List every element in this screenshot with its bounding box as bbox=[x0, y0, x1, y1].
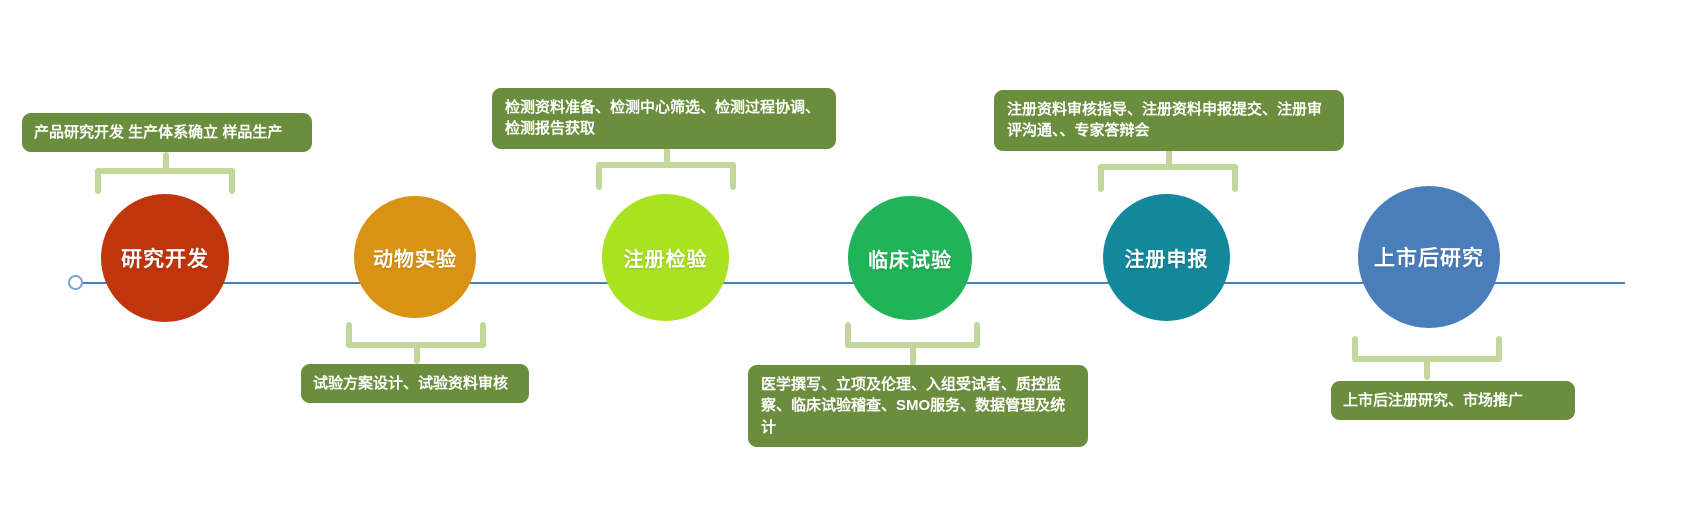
callout-stage-6: 上市后注册研究、市场推广 bbox=[1331, 381, 1575, 420]
callout-stage-5: 注册资料审核指导、注册资料申报提交、注册审评沟通、、专家答辩会 bbox=[994, 90, 1344, 151]
bracket-stage-5 bbox=[1098, 144, 1238, 196]
callout-stage-4: 医学撰写、立项及伦理、入组受试者、质控监察、临床试验稽查、SMO服务、数据管理及… bbox=[748, 365, 1088, 447]
bracket-stage-6 bbox=[1352, 336, 1502, 382]
node-stage-5[interactable]: 注册申报 bbox=[1103, 194, 1230, 321]
bracket-stage-3 bbox=[596, 142, 736, 194]
node-stage-6[interactable]: 上市后研究 bbox=[1358, 186, 1500, 328]
diagram-canvas: 产品研究开发 生产体系确立 样品生产 研究开发 动物实验 试验方案设计、试验资料… bbox=[0, 0, 1699, 522]
node-stage-4[interactable]: 临床试验 bbox=[848, 196, 972, 320]
node-stage-3[interactable]: 注册检验 bbox=[602, 194, 729, 321]
callout-stage-3: 检测资料准备、检测中心筛选、检测过程协调、检测报告获取 bbox=[492, 88, 836, 149]
timeline-start-dot bbox=[68, 275, 83, 290]
node-stage-1[interactable]: 研究开发 bbox=[101, 194, 229, 322]
callout-stage-1: 产品研究开发 生产体系确立 样品生产 bbox=[22, 113, 312, 152]
node-stage-2[interactable]: 动物实验 bbox=[354, 196, 476, 318]
bracket-stage-4 bbox=[845, 322, 980, 368]
bracket-stage-2 bbox=[346, 322, 486, 366]
callout-stage-2: 试验方案设计、试验资料审核 bbox=[301, 364, 529, 403]
bracket-stage-1 bbox=[95, 152, 235, 196]
